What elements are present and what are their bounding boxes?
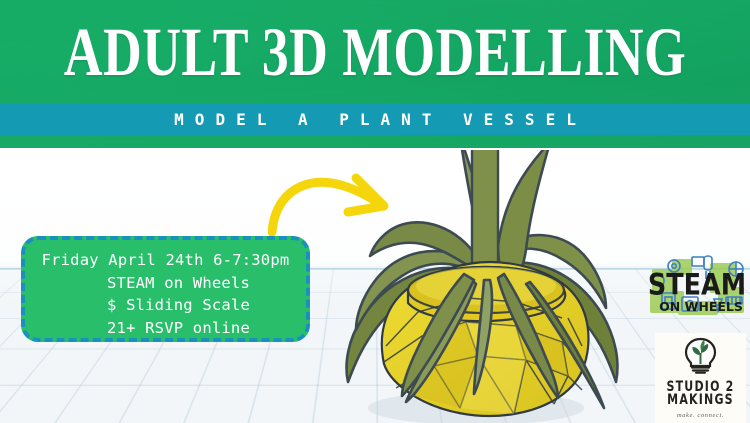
event-rsvp: 21+ RSVP online <box>25 317 306 340</box>
event-price: $ Sliding Scale <box>25 294 306 317</box>
page-subtitle: MODEL A PLANT VESSEL <box>0 104 750 135</box>
poster-header: ADULT 3D MODELLING MODEL A PLANT VESSEL <box>0 0 750 148</box>
lightbulb-plant-icon <box>655 333 746 375</box>
steam-on-wheels-logo: STEAM ON WHEELS <box>648 253 746 329</box>
event-date: Friday April 24th 6-7:30pm <box>25 249 306 272</box>
event-flyer: ADULT 3D MODELLING MODEL A PLANT VESSEL <box>0 0 750 423</box>
studio-line-2: MAKINGS <box>655 391 746 407</box>
hand-drawn-pointer-arrow <box>268 168 408 238</box>
page-title: ADULT 3D MODELLING <box>45 17 705 91</box>
event-location: STEAM on Wheels <box>25 272 306 295</box>
event-details-box: Friday April 24th 6-7:30pm STEAM on Whee… <box>21 236 310 342</box>
studio-tagline: make. connect. <box>655 412 746 419</box>
studio-2-makings-logo: STUDIO 2 MAKINGS make. connect. <box>655 333 746 423</box>
on-wheels-wordmark: ON WHEELS <box>659 299 743 314</box>
steam-wordmark: STEAM <box>648 267 746 302</box>
